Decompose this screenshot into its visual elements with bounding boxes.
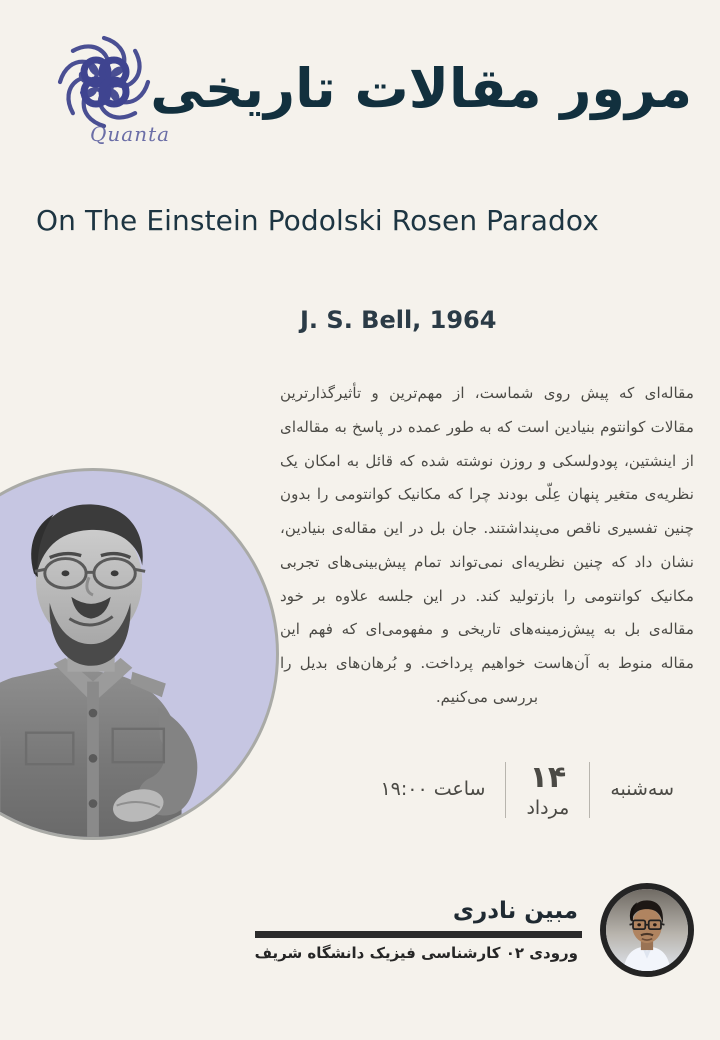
- john-stewart-bell-portrait: [0, 468, 279, 840]
- abstract-paragraph: مقاله‌ای که پیش روی شماست، از مهم‌ترین و…: [280, 377, 694, 715]
- presenter-photo: [600, 883, 694, 977]
- date-divider: [589, 762, 590, 818]
- poster-canvas: Quanta مرور مقالات تاریخی On The Einstei…: [0, 0, 720, 1040]
- page-title: مرور مقالات تاریخی: [172, 58, 692, 120]
- event-date-strip: سه‌شنبه ۱۴ مرداد ساعت ۱۹:۰۰: [354, 748, 694, 832]
- paper-author: J. S. Bell, 1964: [300, 306, 496, 334]
- event-month: مرداد: [526, 797, 569, 821]
- event-date-cell: ۱۴ مرداد: [506, 759, 589, 820]
- date-divider: [505, 762, 506, 818]
- event-time-cell: ساعت ۱۹:۰۰: [360, 778, 505, 802]
- event-time: ساعت ۱۹:۰۰: [380, 778, 485, 802]
- presenter-affiliation: ورودی ۰۲ کارشناسی فیزیک دانشگاه شریف: [255, 944, 582, 962]
- event-day-number: ۱۴: [530, 759, 567, 797]
- paper-title: On The Einstein Podolski Rosen Paradox: [36, 204, 599, 237]
- quanta-wordmark: Quanta: [90, 122, 170, 146]
- presenter-text-block: مبین نادری ورودی ۰۲ کارشناسی فیزیک دانشگ…: [241, 898, 582, 962]
- presenter-divider: [255, 931, 582, 938]
- event-weekday: سه‌شنبه: [610, 778, 674, 802]
- event-weekday-cell: سه‌شنبه: [590, 778, 694, 802]
- presenter-block: مبین نادری ورودی ۰۲ کارشناسی فیزیک دانشگ…: [292, 876, 694, 984]
- presenter-name: مبین نادری: [453, 898, 582, 924]
- poster-header: Quanta مرور مقالات تاریخی: [0, 0, 720, 175]
